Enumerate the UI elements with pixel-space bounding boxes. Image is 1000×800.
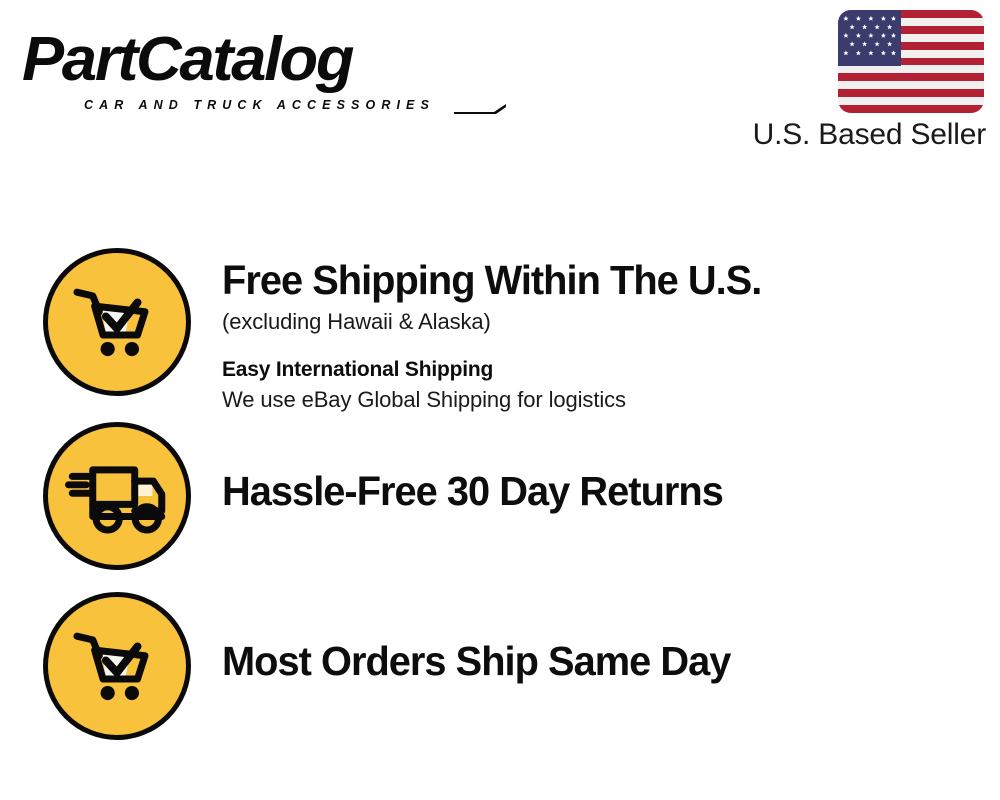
flag-stripe [838,105,984,113]
flag-stars-icon [838,10,901,66]
benefit-subheading: Easy International Shipping [222,355,982,385]
brand-logo[interactable]: PartCatalog CAR AND TRUCK ACCESSORIES [22,26,502,118]
benefit-text-block: Free Shipping Within The U.S. (excluding… [222,256,982,415]
benefit-text-block: Hassle-Free 30 Day Returns [222,467,982,516]
benefit-title: Most Orders Ship Same Day [222,637,959,686]
brand-wordmark: PartCatalog [22,26,352,94]
delivery-truck-icon [43,422,191,570]
page-header: PartCatalog CAR AND TRUCK ACCESSORIES [0,0,1000,170]
logo-swash-icon [454,104,506,114]
benefit-title: Hassle-Free 30 Day Returns [222,467,959,516]
flag-stripe [838,81,984,89]
benefit-detail: We use eBay Global Shipping for logistic… [222,385,982,415]
shopping-cart-check-icon [43,248,191,396]
benefits-list: Free Shipping Within The U.S. (excluding… [0,230,1000,770]
benefit-text-block: Most Orders Ship Same Day [222,637,982,686]
benefit-note: (excluding Hawaii & Alaska) [222,307,982,337]
benefit-item: Hassle-Free 30 Day Returns [0,420,1000,590]
flag-stripe [838,65,984,73]
flag-stripe [838,73,984,81]
us-flag-icon [838,10,984,113]
flag-stripe [838,89,984,97]
benefit-title: Free Shipping Within The U.S. [222,256,959,305]
benefit-item: Free Shipping Within The U.S. (excluding… [0,248,1000,428]
us-based-seller-label: U.S. Based Seller [753,118,986,152]
flag-stripe [838,97,984,105]
brand-tagline: CAR AND TRUCK ACCESSORIES [84,98,435,112]
shopping-cart-check-icon [43,592,191,740]
benefit-item: Most Orders Ship Same Day [0,591,1000,761]
